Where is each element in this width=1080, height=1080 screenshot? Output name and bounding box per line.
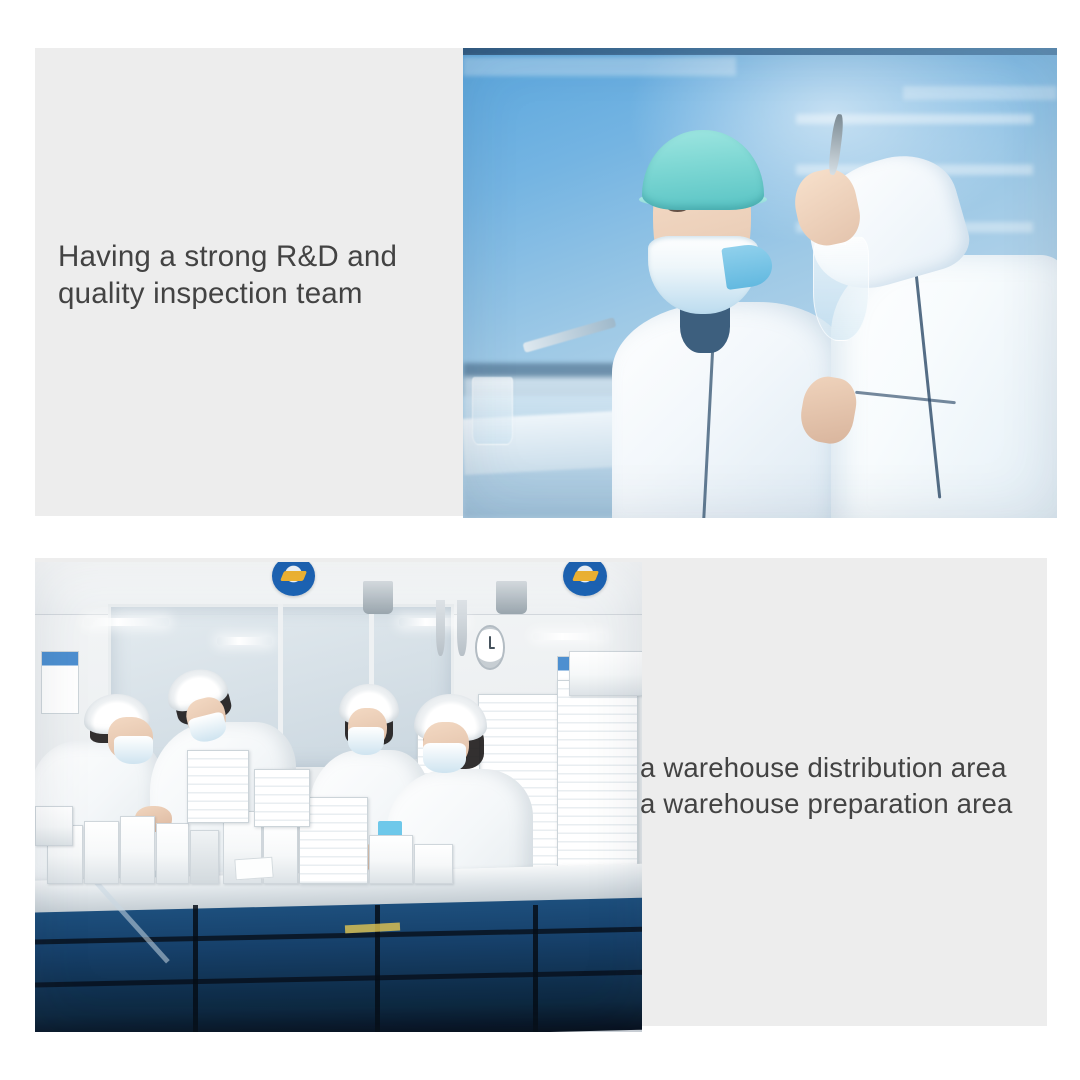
frame-leg bbox=[193, 905, 198, 1032]
page-canvas: Having a strong R&D and quality inspecti… bbox=[0, 0, 1080, 1080]
box-stack bbox=[254, 769, 311, 827]
product-box bbox=[35, 806, 73, 846]
product-box bbox=[156, 823, 188, 884]
product-box bbox=[190, 830, 219, 884]
ceiling-light bbox=[399, 618, 466, 626]
worker-3-face-mask bbox=[348, 727, 384, 755]
worker-4-face-mask bbox=[423, 743, 465, 774]
laboratory-scene bbox=[463, 48, 1057, 518]
lab-shelf bbox=[903, 86, 1057, 100]
lab-shelf bbox=[463, 57, 736, 76]
caption-line: quality inspection team bbox=[58, 275, 397, 312]
caption-line: a warehouse preparation area bbox=[640, 786, 1013, 822]
product-box bbox=[414, 844, 452, 884]
ceiling-light bbox=[84, 618, 169, 626]
caption-line: Having a strong R&D and bbox=[58, 238, 397, 275]
carton-stack bbox=[557, 680, 638, 884]
glass-flask bbox=[813, 236, 868, 341]
carton bbox=[569, 651, 642, 695]
warehouse-photo bbox=[35, 562, 642, 1032]
worker-1-face-mask bbox=[114, 736, 153, 764]
warehouse-scene bbox=[35, 562, 642, 1032]
wall-clock-icon bbox=[475, 625, 504, 669]
caption-line: a warehouse distribution area bbox=[640, 750, 1013, 786]
stainless-pot bbox=[496, 581, 526, 614]
ceiling-hose bbox=[457, 600, 467, 656]
product-box bbox=[84, 821, 119, 884]
ceiling-hose bbox=[436, 600, 446, 656]
ceiling-light bbox=[217, 637, 272, 645]
product-box bbox=[369, 835, 413, 884]
lab-ceiling-bar bbox=[463, 48, 1057, 55]
frame-leg bbox=[533, 905, 538, 1032]
paper-sheet bbox=[235, 857, 275, 880]
lab-beaker bbox=[472, 377, 513, 445]
stainless-pot bbox=[363, 581, 393, 614]
ceiling-light bbox=[533, 633, 606, 641]
rd-quality-caption: Having a strong R&D and quality inspecti… bbox=[58, 238, 397, 312]
notice-board bbox=[41, 651, 79, 714]
warehouse-caption: a warehouse distribution area a warehous… bbox=[640, 750, 1013, 822]
box-stack bbox=[187, 750, 250, 823]
product-box bbox=[120, 816, 155, 884]
rd-quality-photo bbox=[463, 48, 1057, 518]
